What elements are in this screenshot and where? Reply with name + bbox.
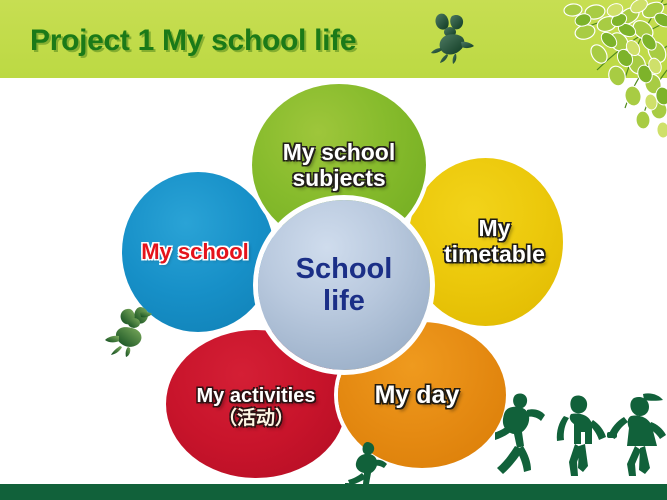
running-children-silhouette-icon — [495, 388, 667, 488]
running-child-silhouette-icon — [345, 440, 387, 488]
petal-label-timetable: My timetable — [426, 216, 545, 268]
slide-canvas: Project 1 My school life — [0, 0, 667, 500]
petal-label-activities-chinese: （活动） — [197, 408, 316, 429]
center-node-label: School life — [296, 253, 393, 318]
petal-label-school: My school — [141, 240, 255, 265]
center-node-school-life[interactable]: School life — [258, 200, 430, 370]
fairy-silhouette-icon — [100, 305, 154, 357]
petal-label-activities: My activities （活动） — [197, 385, 316, 430]
ground-strip — [0, 484, 667, 500]
header-band: Project 1 My school life — [0, 0, 667, 78]
petal-my-timetable[interactable]: My timetable — [408, 158, 563, 326]
page-title: Project 1 My school life — [30, 24, 356, 58]
leaves-branch-icon — [467, 0, 667, 150]
petal-label-subjects: My school subjects — [283, 140, 395, 192]
petal-label-day: My day — [375, 381, 470, 409]
